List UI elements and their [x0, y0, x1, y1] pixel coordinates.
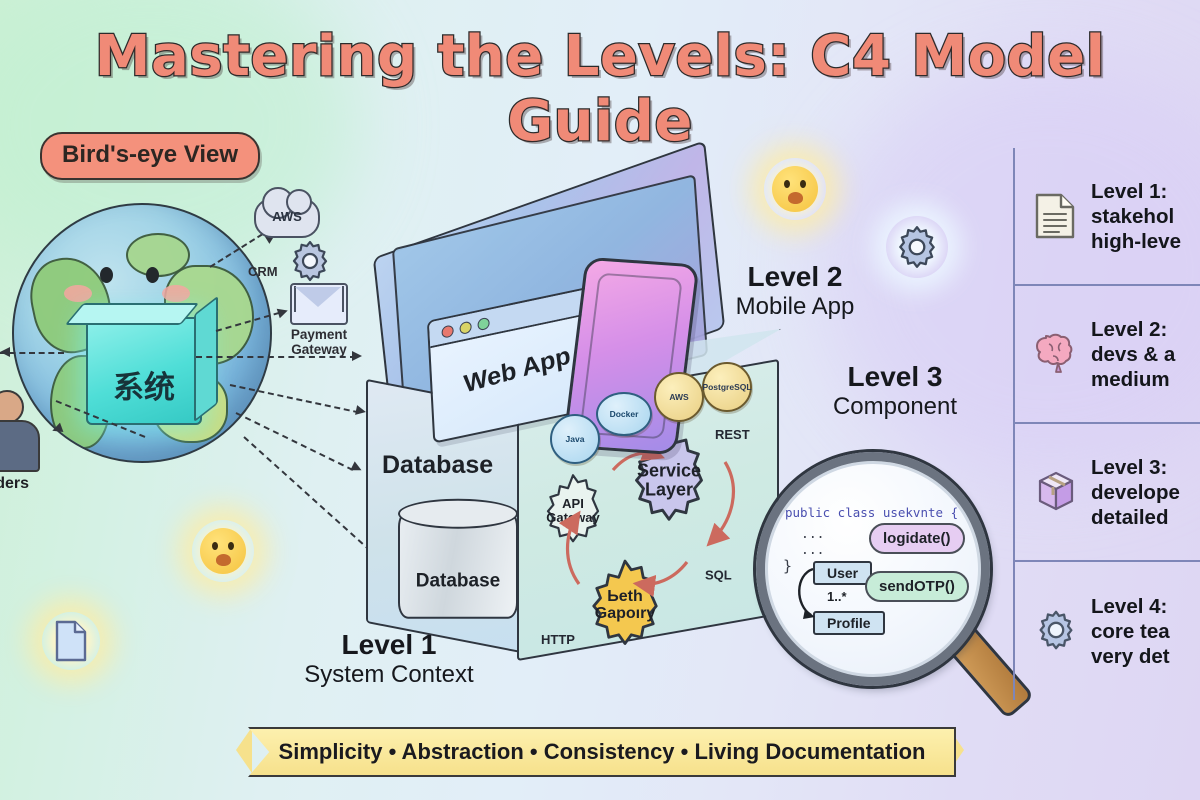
- legend-level-3-line2: develope: [1091, 480, 1180, 505]
- legend-level-3-line3: detailed: [1091, 505, 1180, 530]
- docker-badge: Docker: [596, 392, 652, 436]
- legend-text-level-1: Level 1: stakehol high-leve: [1091, 179, 1181, 254]
- globe-eye-left: [100, 267, 113, 283]
- floating-emoji-face-top: [764, 158, 826, 220]
- level-2-title: Level 2: [700, 262, 890, 293]
- level-1-title: Level 1: [274, 630, 504, 661]
- emoji-eye-right: [800, 180, 806, 188]
- stakeholder-actor: olders: [0, 390, 40, 493]
- database-cylinder: Database: [398, 511, 518, 619]
- level-2-subtitle: Mobile App: [700, 293, 890, 322]
- confused-face-icon: [772, 166, 818, 212]
- cube-top-face: [65, 303, 199, 325]
- principles-ribbon-text: Simplicity • Abstraction • Consistency •…: [279, 739, 926, 765]
- legend-row-level-2[interactable]: Level 2: devs & a medium: [1015, 286, 1200, 424]
- emoji-eye-right: [228, 542, 234, 550]
- legend-level-4-line3: very det: [1091, 644, 1170, 669]
- system-cube: 系统: [86, 317, 202, 425]
- package-icon: [1033, 468, 1079, 516]
- actor-head: [0, 390, 24, 424]
- level-3-caption: Level 3 Component: [800, 362, 990, 422]
- external-system-aws: AWS: [254, 198, 320, 240]
- principles-ribbon: Simplicity • Abstraction • Consistency •…: [248, 727, 956, 777]
- code-ellipsis-2: ...: [801, 543, 824, 558]
- birds-eye-view-badge: Bird's-eye View: [40, 132, 260, 180]
- payment-gateway-label-line1: Payment: [290, 328, 348, 343]
- legend-row-level-4[interactable]: Level 4: core tea very det: [1015, 562, 1200, 700]
- document-icon: [1033, 192, 1079, 240]
- legend-level-1-line1: Level 1:: [1091, 179, 1181, 204]
- arrowhead-gateway: [277, 306, 290, 319]
- level-3-subtitle: Component: [800, 393, 990, 422]
- aws-badge: AWS: [654, 372, 704, 422]
- legend-level-1-line2: stakehol: [1091, 204, 1181, 229]
- legend-level-2-line2: devs & a: [1091, 342, 1175, 367]
- gear-icon: [1033, 607, 1079, 655]
- database-label: Database: [382, 451, 493, 480]
- infographic-canvas: Mastering the Levels: C4 Model Guide Bir…: [0, 0, 1200, 800]
- cube-side-face: [194, 296, 218, 423]
- levels-legend-panel: Level 1: stakehol high-leve Level 2: dev…: [1013, 148, 1200, 700]
- database-cylinder-label: Database: [400, 571, 516, 593]
- floating-emoji-face-left: [192, 520, 254, 582]
- level-2-caption: Level 2 Mobile App: [700, 262, 890, 322]
- legend-text-level-4: Level 4: core tea very det: [1091, 594, 1170, 669]
- legend-row-level-1[interactable]: Level 1: stakehol high-leve: [1015, 148, 1200, 286]
- window-minimize-dot: [459, 321, 472, 335]
- gear-icon: [892, 222, 942, 272]
- level-1-caption: Level 1 System Context: [274, 630, 504, 690]
- java-badge: Java: [550, 414, 600, 464]
- level-1-subtitle: System Context: [274, 661, 504, 690]
- document-icon-shape: [1033, 192, 1077, 240]
- postgresql-badge: PostgreSQL: [702, 362, 752, 412]
- actor-label: olders: [0, 475, 40, 493]
- legend-row-level-3[interactable]: Level 3: develope detailed: [1015, 424, 1200, 562]
- aws-label: AWS: [256, 210, 318, 224]
- globe-illustration: 系统: [12, 203, 272, 463]
- package-icon-shape: [1033, 468, 1079, 514]
- system-cube-label: 系统: [113, 362, 175, 423]
- legend-level-2-line1: Level 2:: [1091, 317, 1175, 342]
- floating-document-icon: [42, 612, 100, 670]
- emoji-mouth: [788, 192, 803, 204]
- code-ellipsis-1: ...: [801, 527, 824, 542]
- actor-body: [0, 420, 40, 472]
- document-icon: [53, 619, 89, 663]
- legend-level-4-line1: Level 4:: [1091, 594, 1170, 619]
- globe-cheek-right: [162, 285, 190, 302]
- arrowhead-actor-left: [0, 347, 10, 357]
- dashed-line-to-box-3: [236, 412, 354, 471]
- payment-gateway-label-line2: Gateway: [290, 343, 348, 358]
- legend-text-level-2: Level 2: devs & a medium: [1091, 317, 1175, 392]
- globe-eye-right: [146, 267, 159, 283]
- emoji-mouth: [216, 554, 231, 566]
- confused-face-icon: [200, 528, 246, 574]
- window-maximize-dot: [477, 317, 490, 331]
- legend-level-4-line2: core tea: [1091, 619, 1170, 644]
- uml-association-arrow: [791, 561, 831, 625]
- gear-icon: [286, 237, 334, 285]
- legend-text-level-3: Level 3: develope detailed: [1091, 455, 1180, 530]
- legend-level-1-line3: high-leve: [1091, 229, 1181, 254]
- emoji-eye-left: [784, 180, 790, 188]
- ribbon-tail-left: [236, 727, 252, 773]
- brain-icon-shape: [1033, 330, 1079, 374]
- magnifier-lens: public class usekvnte { ... ... } User 1…: [756, 452, 990, 686]
- external-system-payment-gateway: Payment Gateway: [290, 283, 348, 358]
- globe-cheek-left: [64, 285, 92, 302]
- logidate-bubble: logidate(): [869, 523, 965, 554]
- code-class-signature: public class usekvnte {: [785, 505, 965, 520]
- window-close-dot: [441, 324, 454, 338]
- floating-gear-icon: [886, 216, 948, 278]
- emoji-eye-left: [212, 542, 218, 550]
- sendotp-bubble: sendOTP(): [865, 571, 969, 602]
- external-system-crm: CRM: [286, 237, 334, 285]
- legend-level-3-line1: Level 3:: [1091, 455, 1180, 480]
- brain-icon: [1033, 330, 1079, 378]
- gear-icon-shape: [1033, 607, 1079, 653]
- crm-label: CRM: [248, 265, 278, 279]
- legend-level-2-line3: medium: [1091, 367, 1175, 392]
- level-3-title: Level 3: [800, 362, 990, 393]
- cloud-icon: AWS: [254, 198, 320, 238]
- envelope-icon: [290, 283, 348, 325]
